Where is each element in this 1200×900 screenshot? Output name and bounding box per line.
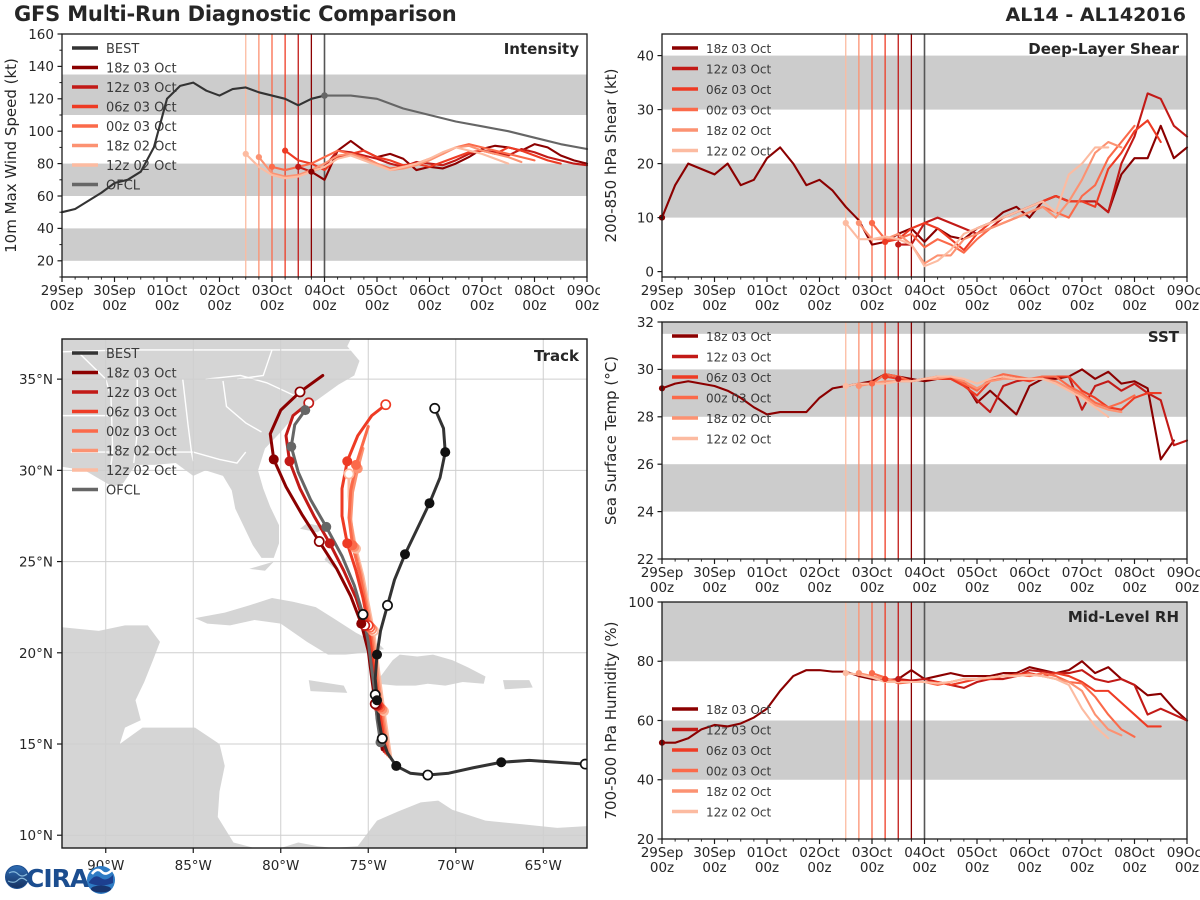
panel-title: Mid-Level RH <box>1068 608 1179 626</box>
lon-tick-label: 65°W <box>525 858 562 874</box>
x-tick-label: 09Oct <box>1167 845 1200 861</box>
y-axis-label: Sea Surface Temp (°C) <box>602 356 620 525</box>
track-marker-filled <box>286 442 296 452</box>
x-tick-sublabel: 00z <box>1017 860 1041 876</box>
y-tick-label: 120 <box>28 92 54 108</box>
x-tick-label: 02Oct <box>799 283 840 299</box>
x-tick-label: 30Sep <box>93 283 136 299</box>
x-tick-label: 08Oct <box>1114 845 1155 861</box>
run-init-marker <box>856 670 862 676</box>
lat-tick-label: 25°N <box>19 555 53 571</box>
x-tick-label: 08Oct <box>514 283 555 299</box>
run-init-marker <box>856 383 862 389</box>
legend-label: 06z 03 Oct <box>106 405 177 420</box>
x-tick-sublabel: 00z <box>1175 860 1199 876</box>
track-marker-open <box>430 404 439 413</box>
track-marker-filled <box>372 695 382 705</box>
legend-label: 18z 02 Oct <box>106 139 177 154</box>
x-tick-label: 29Sep <box>641 283 684 299</box>
x-tick-label: 30Sep <box>693 845 736 861</box>
x-tick-sublabel: 00z <box>575 298 599 314</box>
x-tick-label: 04Oct <box>904 565 945 581</box>
track-marker-open <box>315 537 324 546</box>
x-tick-sublabel: 00z <box>207 298 231 314</box>
legend-label: 12z 03 Oct <box>706 62 772 76</box>
run-init-marker <box>869 220 875 226</box>
track-marker-filled <box>300 405 310 415</box>
legend-label: 18z 03 Oct <box>706 42 772 56</box>
y-tick-label: 10 <box>637 210 654 226</box>
y-tick-label: 20 <box>37 254 54 270</box>
lat-tick-label: 20°N <box>19 646 53 662</box>
run-init-marker <box>869 670 875 676</box>
track-marker-open <box>383 601 392 610</box>
lat-tick-label: 35°N <box>19 372 53 388</box>
x-tick-label: 07Oct <box>1062 845 1103 861</box>
run-init-marker <box>895 376 901 382</box>
run-init-marker <box>308 169 314 175</box>
track-marker-open <box>358 610 367 619</box>
run-init-marker <box>882 373 888 379</box>
x-tick-sublabel: 00z <box>965 860 989 876</box>
track-marker-open <box>344 469 353 478</box>
x-tick-label: 09Oct <box>567 283 600 299</box>
x-tick-sublabel: 00z <box>417 298 441 314</box>
track-marker-filled <box>440 447 450 457</box>
x-tick-label: 09Oct <box>1167 283 1200 299</box>
legend-label: 18z 02 Oct <box>706 785 772 799</box>
x-tick-sublabel: 00z <box>312 298 336 314</box>
x-tick-label: 02Oct <box>799 565 840 581</box>
x-tick-label: 03Oct <box>852 565 893 581</box>
x-tick-sublabel: 00z <box>1070 860 1094 876</box>
lon-tick-label: 70°W <box>437 858 474 874</box>
track-marker-open <box>295 387 304 396</box>
x-tick-label: 04Oct <box>904 283 945 299</box>
x-tick-label: 29Sep <box>641 845 684 861</box>
x-tick-label: 01Oct <box>147 283 188 299</box>
legend-label: 12z 03 Oct <box>106 81 177 96</box>
y-axis-label: 200-850 hPa Shear (kt) <box>602 69 620 243</box>
x-tick-sublabel: 00z <box>470 298 494 314</box>
legend-label: 06z 03 Oct <box>706 371 772 385</box>
ofcl-init-marker <box>321 92 328 99</box>
x-tick-label: 01Oct <box>747 845 788 861</box>
legend-label: 18z 03 Oct <box>106 61 177 76</box>
y-tick-label: 40 <box>637 48 654 64</box>
cira-logo: CIRA <box>4 856 124 898</box>
x-tick-label: 08Oct <box>1114 565 1155 581</box>
panel-title: Deep-Layer Shear <box>1028 40 1179 58</box>
legend-label: 00z 03 Oct <box>106 425 177 440</box>
lat-tick-label: 30°N <box>19 463 53 479</box>
lon-tick-label: 80°W <box>262 858 299 874</box>
legend-label: 18z 03 Oct <box>706 703 772 717</box>
legend-label: 00z 03 Oct <box>706 391 772 405</box>
run-init-marker <box>869 381 875 387</box>
x-tick-label: 06Oct <box>409 283 450 299</box>
x-tick-label: 02Oct <box>199 283 240 299</box>
x-tick-label: 03Oct <box>252 283 293 299</box>
x-tick-label: 01Oct <box>747 283 788 299</box>
x-tick-sublabel: 00z <box>807 860 831 876</box>
x-tick-sublabel: 00z <box>260 298 284 314</box>
y-tick-label: 20 <box>637 156 654 172</box>
y-tick-label: 24 <box>637 504 654 520</box>
run-init-marker <box>243 151 249 157</box>
lon-tick-label: 85°W <box>175 858 212 874</box>
legend-label: 06z 03 Oct <box>706 83 772 97</box>
track-marker-filled <box>356 619 366 629</box>
y-tick-label: 40 <box>637 773 654 789</box>
lat-tick-label: 15°N <box>19 737 53 753</box>
x-tick-sublabel: 00z <box>522 298 546 314</box>
x-tick-label: 02Oct <box>799 845 840 861</box>
y-tick-label: 26 <box>637 457 654 473</box>
x-tick-label: 08Oct <box>1114 283 1155 299</box>
legend-label: 06z 03 Oct <box>106 100 177 115</box>
shear-panel: 01020304029Sep00z30Sep00z01Oct00z02Oct00… <box>600 22 1200 322</box>
legend-label: 06z 03 Oct <box>706 744 772 758</box>
x-tick-label: 05Oct <box>957 283 998 299</box>
y-tick-label: 30 <box>637 102 654 118</box>
track-marker-filled <box>269 454 279 464</box>
y-tick-label: 60 <box>37 189 54 205</box>
legend-label: 00z 03 Oct <box>706 103 772 117</box>
x-tick-label: 29Sep <box>641 565 684 581</box>
legend-label: 12z 02 Oct <box>106 159 177 174</box>
legend-label: 12z 02 Oct <box>706 432 772 446</box>
x-tick-label: 03Oct <box>852 283 893 299</box>
run-init-marker <box>856 220 862 226</box>
legend-label: 18z 03 Oct <box>106 366 177 381</box>
y-tick-label: 160 <box>28 27 54 43</box>
panel-title: Track <box>534 347 580 365</box>
x-tick-label: 05Oct <box>957 845 998 861</box>
y-tick-label: 0 <box>645 264 654 280</box>
lon-tick-label: 75°W <box>350 858 387 874</box>
legend-label: 12z 03 Oct <box>706 350 772 364</box>
run-init-marker <box>843 670 849 676</box>
x-tick-label: 30Sep <box>693 565 736 581</box>
track-marker-filled <box>351 460 361 470</box>
run-init-marker <box>895 676 901 682</box>
x-tick-label: 09Oct <box>1167 565 1200 581</box>
x-tick-label: 30Sep <box>693 283 736 299</box>
y-tick-label: 28 <box>637 410 654 426</box>
rh-panel: 2040608010029Sep00z30Sep00z01Oct00z02Oct… <box>600 582 1200 882</box>
y-tick-label: 30 <box>637 362 654 378</box>
legend-label: 18z 02 Oct <box>706 124 772 138</box>
x-tick-label: 01Oct <box>747 565 788 581</box>
track-marker-open <box>381 400 390 409</box>
x-tick-label: 06Oct <box>1009 845 1050 861</box>
intensity-panel: 2040608010012014016029Sep00z30Sep00z01Oc… <box>0 22 600 322</box>
x-tick-sublabel: 00z <box>912 860 936 876</box>
y-tick-label: 32 <box>637 315 654 331</box>
x-tick-label: 05Oct <box>957 565 998 581</box>
track-marker-open <box>581 759 590 768</box>
y-tick-label: 80 <box>37 156 54 172</box>
x-tick-sublabel: 00z <box>702 860 726 876</box>
y-tick-label: 100 <box>628 595 654 611</box>
run-init-marker <box>843 383 849 389</box>
lat-tick-label: 10°N <box>19 828 53 844</box>
x-tick-sublabel: 00z <box>102 298 126 314</box>
x-tick-sublabel: 00z <box>155 298 179 314</box>
legend-label: 00z 03 Oct <box>706 764 772 778</box>
run-init-marker <box>295 164 301 170</box>
run-init-marker <box>895 242 901 248</box>
x-tick-label: 07Oct <box>1062 565 1103 581</box>
run-init-marker <box>269 164 275 170</box>
x-tick-label: 07Oct <box>462 283 503 299</box>
track-marker-open <box>423 770 432 779</box>
legend-label: BEST <box>106 42 139 57</box>
panel-title: SST <box>1148 328 1180 346</box>
run-init-marker <box>282 148 288 154</box>
x-tick-sublabel: 00z <box>860 860 884 876</box>
x-tick-label: 07Oct <box>1062 283 1103 299</box>
run-init-marker <box>882 676 888 682</box>
x-tick-sublabel: 00z <box>365 298 389 314</box>
legend-label: OFCL <box>106 178 141 193</box>
panel-title: Intensity <box>504 40 580 58</box>
x-tick-sublabel: 00z <box>650 860 674 876</box>
svg-text:CIRA: CIRA <box>26 864 90 893</box>
legend-label: BEST <box>106 347 139 362</box>
y-tick-label: 80 <box>637 654 654 670</box>
x-tick-label: 05Oct <box>357 283 398 299</box>
legend-label: 18z 02 Oct <box>106 444 177 459</box>
legend-label: 18z 02 Oct <box>706 412 772 426</box>
run-init-marker <box>882 239 888 245</box>
track-marker-filled <box>496 757 506 767</box>
boundary-line <box>302 325 334 339</box>
x-tick-label: 06Oct <box>1009 565 1050 581</box>
x-tick-label: 06Oct <box>1009 283 1050 299</box>
y-tick-label: 40 <box>37 221 54 237</box>
legend-label: 12z 02 Oct <box>106 464 177 479</box>
sst-panel: 22242628303229Sep00z30Sep00z01Oct00z02Oc… <box>600 302 1200 602</box>
run-init-marker <box>256 154 262 160</box>
legend-label: 12z 03 Oct <box>706 723 772 737</box>
y-tick-label: 100 <box>28 124 54 140</box>
legend-label: OFCL <box>106 483 141 498</box>
x-tick-sublabel: 00z <box>755 860 779 876</box>
legend-label: 18z 03 Oct <box>706 330 772 344</box>
track-marker-filled <box>372 650 382 660</box>
legend-label: 00z 03 Oct <box>106 120 177 135</box>
track-marker-filled <box>342 538 352 548</box>
track-marker-open <box>378 734 387 743</box>
y-axis-label: 700-500 hPa Humidity (%) <box>602 621 620 819</box>
track-marker-filled <box>285 456 295 466</box>
track-marker-filled <box>391 761 401 771</box>
track-marker-filled <box>425 498 435 508</box>
legend-label: 12z 02 Oct <box>706 144 772 158</box>
run-init-marker <box>843 220 849 226</box>
track-marker-filled <box>321 522 331 532</box>
x-tick-label: 04Oct <box>304 283 345 299</box>
track-marker-filled <box>400 549 410 559</box>
x-tick-label: 29Sep <box>41 283 84 299</box>
x-tick-sublabel: 00z <box>50 298 74 314</box>
y-tick-label: 60 <box>637 713 654 729</box>
legend-label: 12z 03 Oct <box>106 386 177 401</box>
x-tick-sublabel: 00z <box>1122 860 1146 876</box>
track-marker-filled <box>325 538 335 548</box>
track-panel: 10°N15°N20°N25°N30°N35°N90°W85°W80°W75°W… <box>0 325 600 900</box>
legend-label: 12z 02 Oct <box>706 805 772 819</box>
track-marker-filled <box>342 456 352 466</box>
x-tick-label: 03Oct <box>852 845 893 861</box>
x-tick-label: 04Oct <box>904 845 945 861</box>
y-tick-label: 140 <box>28 59 54 75</box>
y-axis-label: 10m Max Wind Speed (kt) <box>2 58 20 253</box>
